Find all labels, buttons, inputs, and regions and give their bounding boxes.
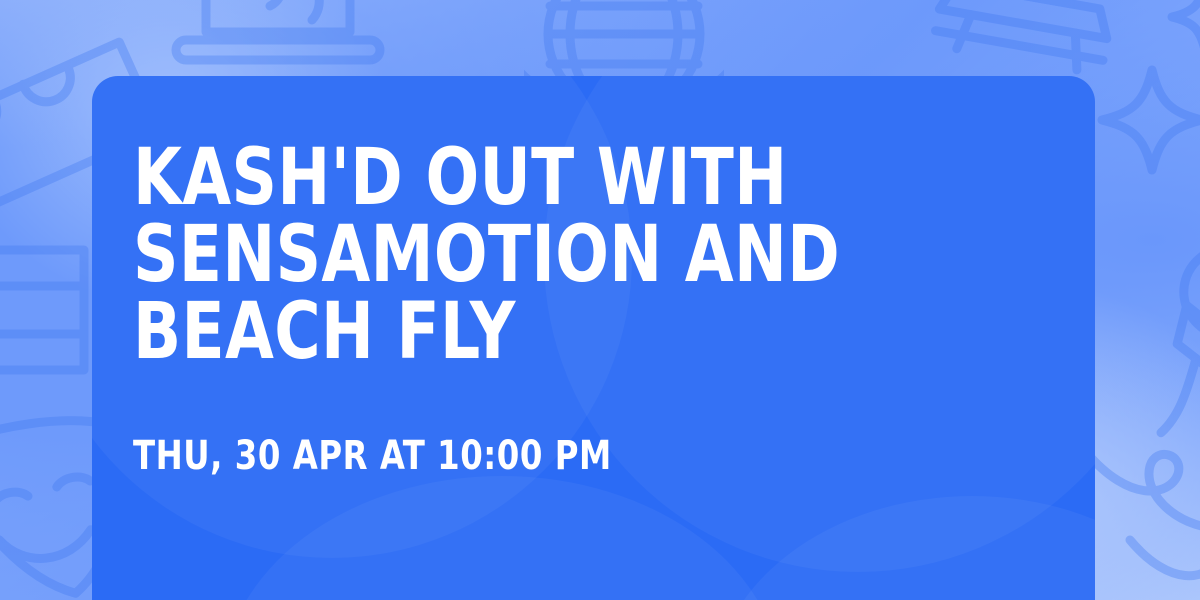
star-icon [1160, 0, 1200, 62]
event-banner: Kash'd Out with Sensamotion and Beach Fl… [0, 0, 1200, 600]
sparkle-icon [1092, 60, 1200, 180]
laptop-icon [148, 0, 408, 86]
event-title: Kash'd Out with Sensamotion and Beach Fl… [133, 140, 945, 372]
event-datetime: THU, 30 APR AT 10:00 PM [133, 436, 945, 476]
event-card[interactable]: Kash'd Out with Sensamotion and Beach Fl… [92, 76, 1095, 600]
card-decorative-circle [222, 476, 782, 600]
card-content: Kash'd Out with Sensamotion and Beach Fl… [133, 140, 1035, 476]
card-decorative-circle [712, 496, 1095, 600]
swirl-icon [1112, 500, 1200, 600]
